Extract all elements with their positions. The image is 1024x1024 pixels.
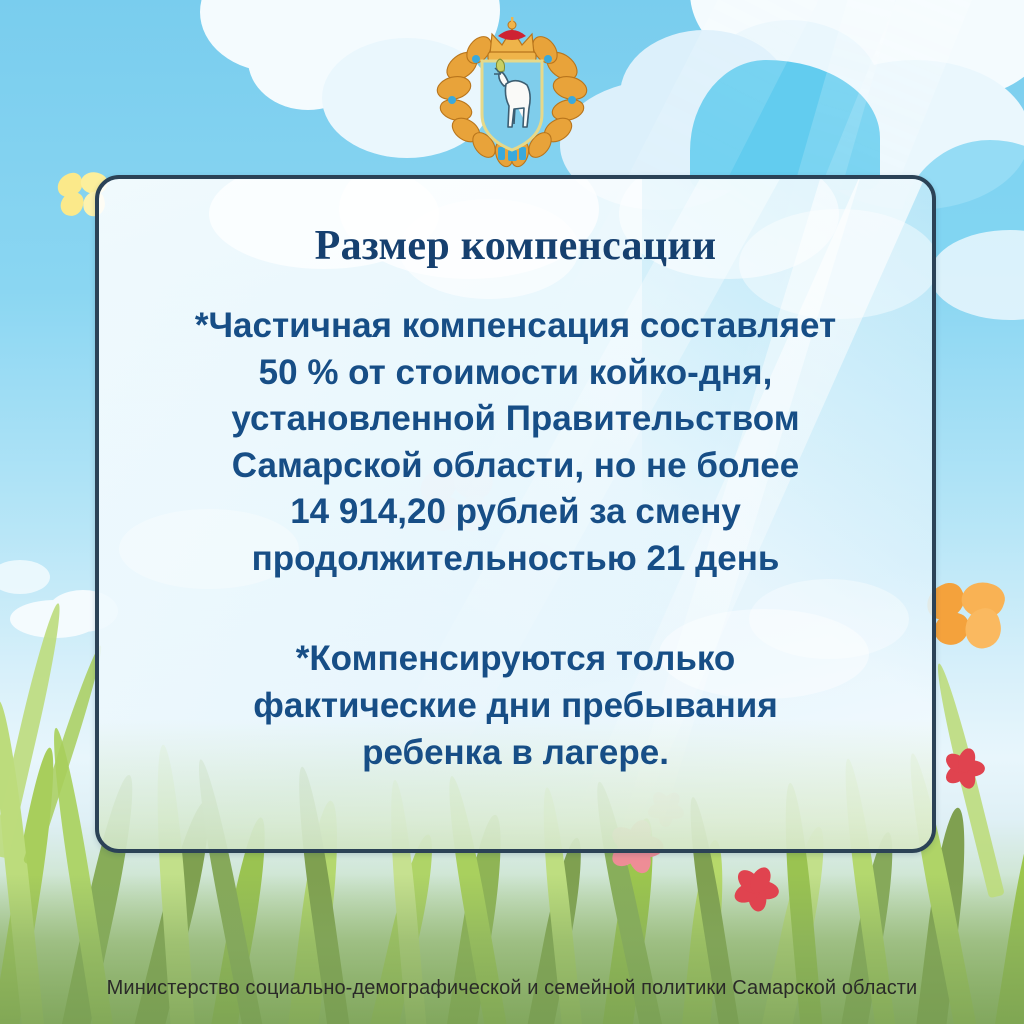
- samara-oblast-coat-of-arms: [432, 14, 592, 172]
- paragraph-line: продолжительностью 21 день: [145, 536, 886, 583]
- paragraph-line: фактические дни пребывания: [145, 683, 886, 730]
- paragraph-line: *Частичная компенсация составляет: [145, 303, 886, 350]
- poster-root: Размер компенсации *Частичная компенсаци…: [0, 0, 1024, 1024]
- flower-red: [939, 743, 988, 792]
- paragraph-line: 14 914,20 рублей за смену: [145, 489, 886, 536]
- page-title: Размер компенсации: [145, 223, 886, 269]
- paragraph-line: Самарской области, но не более: [145, 443, 886, 490]
- paragraph-compensation-amount: *Частичная компенсация составляет 50 % о…: [145, 303, 886, 582]
- paragraph-line: установленной Правительством: [145, 396, 886, 443]
- ground-shadow: [0, 874, 1024, 1024]
- information-card: Размер компенсации *Частичная компенсаци…: [95, 175, 936, 853]
- footer-ministry-name: Министерство социально-демографической и…: [0, 977, 1024, 1000]
- paragraph-actual-days: *Компенсируются только фактические дни п…: [145, 636, 886, 776]
- paragraph-line: ребенка в лагере.: [145, 730, 886, 777]
- card-content: Размер компенсации *Частичная компенсаци…: [99, 179, 932, 849]
- butterfly-orange-icon: [923, 582, 1013, 654]
- flower-red: [729, 861, 784, 916]
- paragraph-line: *Компенсируются только: [145, 636, 886, 683]
- paragraph-line: 50 % от стоимости койко-дня,: [145, 350, 886, 397]
